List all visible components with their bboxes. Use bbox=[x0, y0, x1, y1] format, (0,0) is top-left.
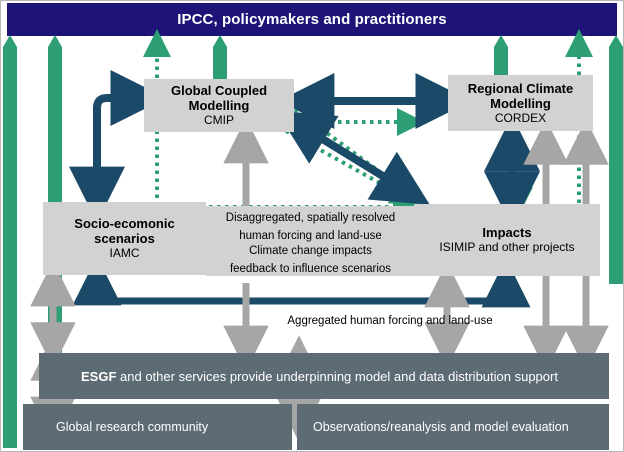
rcm-title-line2: Modelling bbox=[490, 96, 551, 111]
label-feedback-line2: feedback to influence scenarios bbox=[208, 263, 413, 275]
label-aggregated-forcing: Aggregated human forcing and land-use bbox=[254, 315, 526, 327]
label-disaggregated-line1: Disaggregated, spatially resolved bbox=[208, 212, 413, 224]
gcm-title-line1: Global Coupled bbox=[171, 83, 267, 98]
box-impacts[interactable]: Impacts ISIMIP and other projects bbox=[414, 204, 600, 276]
box-global-coupled-modelling[interactable]: Global Coupled Modelling CMIP bbox=[144, 79, 294, 132]
label-disaggregated-forcing: Disaggregated, spatially resolved human … bbox=[208, 212, 413, 242]
esgf-label: ESGF and other services provide underpin… bbox=[81, 369, 558, 384]
impacts-subtitle: ISIMIP and other projects bbox=[439, 240, 574, 255]
label-disaggregated-line2: human forcing and land-use bbox=[208, 230, 413, 242]
bar-observations-reanalysis: Observations/reanalysis and model evalua… bbox=[297, 404, 609, 450]
socio-title-line1: Socio-ecomonic bbox=[74, 216, 174, 231]
socio-subtitle: IAMC bbox=[110, 246, 140, 261]
esgf-description: and other services provide underpinning … bbox=[116, 369, 558, 384]
esgf-infrastructure-bar: ESGF and other services provide underpin… bbox=[39, 353, 609, 399]
gcm-title-line2: Modelling bbox=[189, 98, 250, 113]
esgf-acronym: ESGF bbox=[81, 369, 116, 384]
ipcc-banner: IPCC, policymakers and practitioners bbox=[7, 3, 617, 36]
label-climate-impacts-feedback: Climate change impacts feedback to influ… bbox=[208, 245, 413, 275]
observations-label: Observations/reanalysis and model evalua… bbox=[313, 420, 569, 434]
rcm-title-line1: Regional Climate bbox=[468, 81, 573, 96]
community-label: Global research community bbox=[56, 420, 208, 434]
bar-global-research-community: Global research community bbox=[23, 404, 292, 450]
diagram-canvas: IPCC, policymakers and practitioners bbox=[0, 0, 624, 452]
socio-title-line2: scenarios bbox=[94, 231, 155, 246]
label-feedback-line1: Climate change impacts bbox=[208, 245, 413, 257]
box-regional-climate-modelling[interactable]: Regional Climate Modelling CORDEX bbox=[448, 75, 593, 131]
impacts-title: Impacts bbox=[482, 225, 531, 240]
rcm-subtitle: CORDEX bbox=[495, 111, 546, 126]
gcm-subtitle: CMIP bbox=[204, 113, 234, 128]
box-socio-economic-scenarios[interactable]: Socio-ecomonic scenarios IAMC bbox=[43, 202, 206, 275]
ipcc-banner-label: IPCC, policymakers and practitioners bbox=[177, 11, 447, 28]
